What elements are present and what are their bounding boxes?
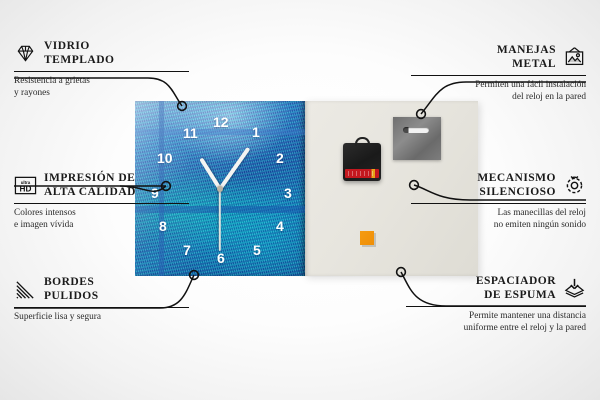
callout-rule xyxy=(14,71,189,72)
callout-header: MANEJAS METAL xyxy=(411,44,586,71)
desc-line-1: Permite mantener una distancia xyxy=(469,311,586,321)
foam-spacer-icon xyxy=(563,277,586,300)
title-line-1: MECANISMO xyxy=(477,172,556,184)
callout-title: BORDES PULIDOS xyxy=(44,276,99,303)
callout-description: Resistencia a grietas y rayones xyxy=(14,75,189,100)
desc-line-2: del reloj en la pared xyxy=(512,92,586,102)
title-line-2: METAL xyxy=(512,58,556,70)
callout-rule xyxy=(411,75,586,76)
clock-numeral-4: 4 xyxy=(276,219,284,233)
clock-center-cap xyxy=(217,186,223,192)
callout-impresion-alta-calidad[interactable]: ultra HD IMPRESIÓN DE ALTA CALIDAD Color… xyxy=(14,172,189,232)
diamond-icon xyxy=(14,42,37,65)
title-line-2: ALTA CALIDAD xyxy=(44,186,136,198)
clock-numeral-2: 2 xyxy=(276,151,284,165)
polished-edges-icon xyxy=(14,278,37,301)
picture-hanger-icon xyxy=(563,46,586,69)
callout-mecanismo-silencioso[interactable]: MECANISMO SILENCIOSO Las manecillas del … xyxy=(411,172,586,232)
title-line-1: ESPACIADOR xyxy=(476,275,556,287)
clock-numeral-7: 7 xyxy=(183,243,191,257)
callout-title: IMPRESIÓN DE ALTA CALIDAD xyxy=(44,172,136,199)
clock-numeral-1: 1 xyxy=(252,125,260,139)
callout-rule xyxy=(14,203,189,204)
battery xyxy=(345,169,379,178)
clock-numeral-3: 3 xyxy=(284,186,292,200)
callout-header: MECANISMO SILENCIOSO xyxy=(411,172,586,199)
hanger-slot xyxy=(403,127,429,133)
callout-header: ESPACIADOR DE ESPUMA xyxy=(406,275,586,302)
title-line-2: SILENCIOSO xyxy=(479,186,556,198)
quartz-mechanism xyxy=(343,143,381,181)
callout-header: ultra HD IMPRESIÓN DE ALTA CALIDAD xyxy=(14,172,189,199)
callout-description: Colores intensos e imagen vívida xyxy=(14,207,189,232)
title-line-1: MANEJAS xyxy=(497,44,556,56)
title-line-2: DE ESPUMA xyxy=(484,289,556,301)
ultra-hd-icon: ultra HD xyxy=(14,174,37,197)
callout-title: VIDRIO TEMPLADO xyxy=(44,40,114,67)
svg-text:HD: HD xyxy=(20,184,32,193)
desc-line-1: Las manecillas del reloj xyxy=(497,208,586,218)
gear-icon xyxy=(563,174,586,197)
clock-numeral-10: 10 xyxy=(157,151,173,165)
title-line-1: IMPRESIÓN DE xyxy=(44,172,135,184)
desc-line-1: Colores intensos xyxy=(14,208,76,218)
callout-header: BORDES PULIDOS xyxy=(14,276,189,303)
callout-title: MANEJAS METAL xyxy=(497,44,556,71)
title-line-2: PULIDOS xyxy=(44,290,99,302)
clock-numeral-6: 6 xyxy=(217,251,225,265)
desc-line-2: e imagen vívida xyxy=(14,220,73,230)
clock-numeral-11: 11 xyxy=(183,126,198,140)
callout-title: ESPACIADOR DE ESPUMA xyxy=(476,275,556,302)
callout-rule xyxy=(411,203,586,204)
title-line-2: TEMPLADO xyxy=(44,54,114,66)
desc-line-1: Superficie lisa y segura xyxy=(14,312,101,322)
callout-bordes-pulidos[interactable]: BORDES PULIDOS Superficie lisa y segura xyxy=(14,276,189,323)
desc-line-2: uniforme entre el reloj y la pared xyxy=(464,323,586,333)
callout-manejas-metal[interactable]: MANEJAS METAL Permiten una fácil instala… xyxy=(411,44,586,104)
callout-title: MECANISMO SILENCIOSO xyxy=(477,172,556,199)
title-line-1: BORDES xyxy=(44,276,94,288)
callout-rule xyxy=(406,306,586,307)
metal-hanger xyxy=(393,117,441,160)
desc-line-1: Permiten una fácil instalación xyxy=(475,80,586,90)
callout-header: VIDRIO TEMPLADO xyxy=(14,40,189,67)
clock-numeral-12: 12 xyxy=(213,115,229,129)
foam-spacer xyxy=(360,231,374,245)
infographic-stage: 12 1 2 3 4 5 6 7 8 9 10 11 xyxy=(0,0,600,400)
mechanism-loop xyxy=(355,137,370,146)
callout-description: Permiten una fácil instalación del reloj… xyxy=(411,79,586,104)
desc-line-1: Resistencia a grietas xyxy=(14,76,90,86)
callout-description: Permite mantener una distancia uniforme … xyxy=(406,310,586,335)
clock-numeral-5: 5 xyxy=(253,243,261,257)
callout-vidrio-templado[interactable]: VIDRIO TEMPLADO Resistencia a grietas y … xyxy=(14,40,189,100)
callout-description: Superficie lisa y segura xyxy=(14,311,189,323)
title-line-1: VIDRIO xyxy=(44,40,90,52)
clock-minute-hand xyxy=(218,147,250,190)
desc-line-2: y rayones xyxy=(14,88,50,98)
clock-second-hand xyxy=(219,189,221,251)
callout-espaciador-de-espuma[interactable]: ESPACIADOR DE ESPUMA Permite mantener un… xyxy=(406,275,586,335)
callout-rule xyxy=(14,307,189,308)
callout-description: Las manecillas del reloj no emiten ningú… xyxy=(411,207,586,232)
clock-hour-hand xyxy=(199,157,221,190)
desc-line-2: no emiten ningún sonido xyxy=(494,220,586,230)
